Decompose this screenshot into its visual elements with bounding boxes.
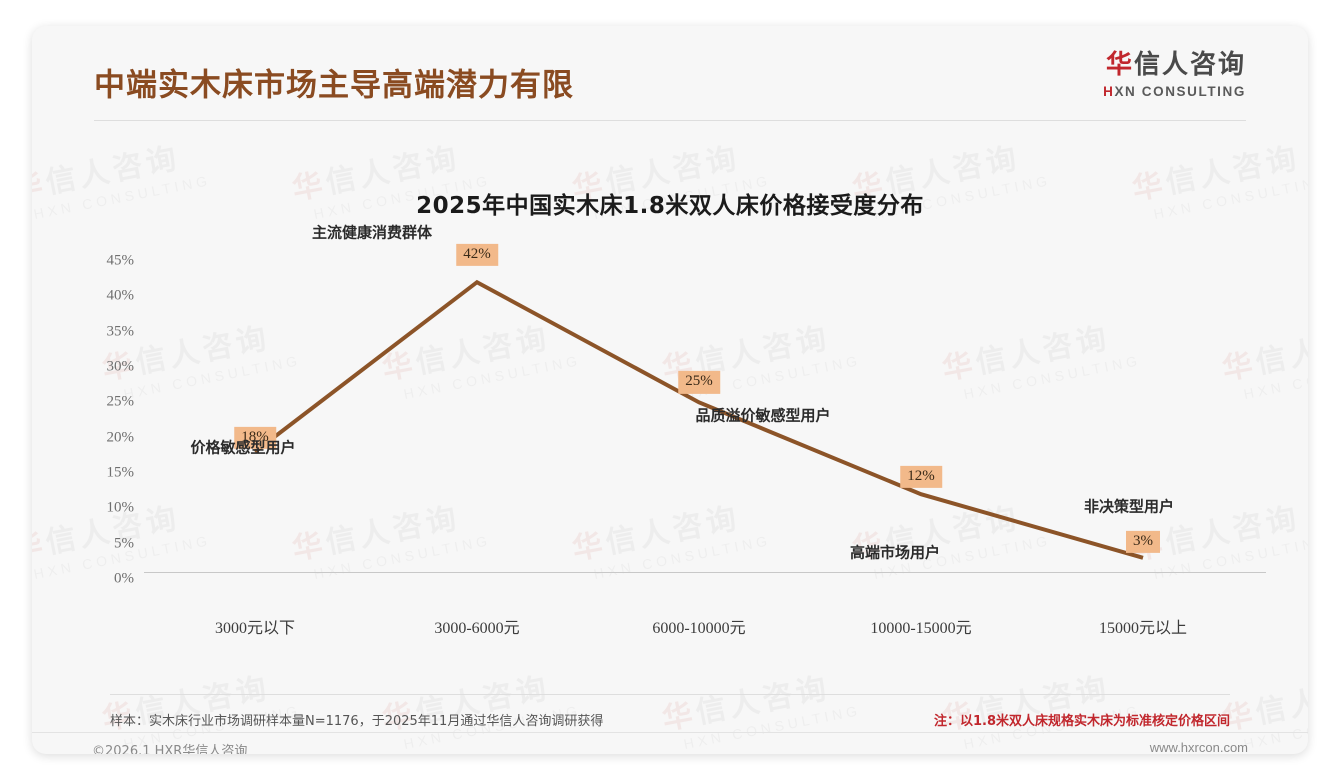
- footnote-divider: [110, 694, 1230, 695]
- x-axis-tick: 15000元以上: [1099, 614, 1187, 638]
- line-series-path: [255, 282, 1143, 558]
- y-axis-tick: 45%: [107, 253, 135, 270]
- x-axis-tick: 10000-15000元: [870, 614, 971, 638]
- slide-canvas: 华信人咨询HXN CONSULTING华信人咨询HXN CONSULTING华信…: [0, 0, 1340, 780]
- plot-area: [144, 261, 1254, 579]
- x-axis-tick: 3000元以下: [215, 614, 295, 638]
- y-axis: 0%5%10%15%20%25%30%35%40%45%: [72, 261, 134, 579]
- footnote-note: 注：以1.8米双人床规格实木床为标准核定价格区间: [934, 710, 1230, 729]
- point-annotation: 主流健康消费群体: [312, 222, 432, 243]
- y-axis-tick: 25%: [107, 394, 135, 411]
- y-axis-tick: 20%: [107, 429, 135, 446]
- footer-url: www.hxrcon.com: [1150, 740, 1248, 754]
- footnote-sample: 样本：实木床行业市场调研样本量N=1176，于2025年11月通过华信人咨询调研…: [110, 710, 603, 729]
- slide-page: 华信人咨询HXN CONSULTING华信人咨询HXN CONSULTING华信…: [32, 26, 1308, 754]
- chart-area: 0%5%10%15%20%25%30%35%40%45% 18%价格敏感型用户4…: [32, 26, 1308, 754]
- line-series-svg: [144, 261, 1254, 579]
- y-axis-tick: 10%: [107, 500, 135, 517]
- y-axis-tick: 0%: [114, 571, 134, 588]
- x-axis-labels: 3000元以下3000-6000元6000-10000元10000-15000元…: [144, 614, 1254, 640]
- footer-divider: [32, 732, 1308, 733]
- x-axis-tick: 3000-6000元: [434, 614, 519, 638]
- y-axis-tick: 30%: [107, 359, 135, 376]
- x-axis-tick: 6000-10000元: [652, 614, 745, 638]
- y-axis-tick: 35%: [107, 323, 135, 340]
- y-axis-tick: 40%: [107, 288, 135, 305]
- footer-copyright: ©2026.1 HXR华信人咨询: [92, 740, 247, 754]
- y-axis-tick: 15%: [107, 465, 135, 482]
- y-axis-tick: 5%: [114, 535, 134, 552]
